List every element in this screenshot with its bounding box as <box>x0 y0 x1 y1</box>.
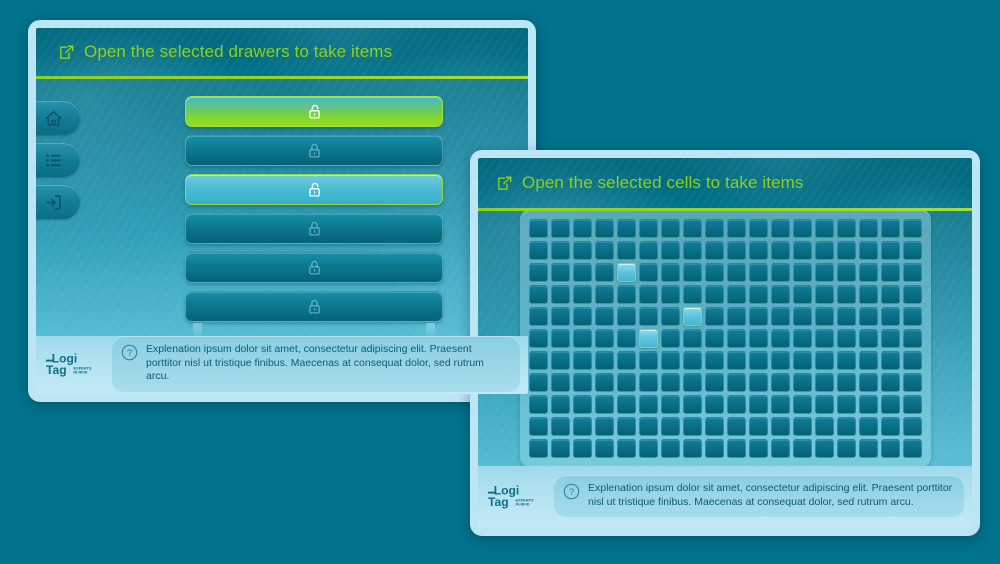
cell-r11-c12[interactable] <box>771 439 790 458</box>
cell-r5-c11[interactable] <box>749 307 768 326</box>
lock-icon <box>306 142 323 159</box>
cell-r9-c10[interactable] <box>727 395 746 414</box>
cell-r4-c5[interactable] <box>617 285 636 304</box>
cell-r6-c6[interactable] <box>639 329 658 348</box>
cell-r7-c1[interactable] <box>529 351 548 370</box>
cell-r10-c8[interactable] <box>683 417 702 436</box>
cell-r10-c11[interactable] <box>749 417 768 436</box>
cell-r4-c12[interactable] <box>771 285 790 304</box>
cell-r3-c9[interactable] <box>705 263 724 282</box>
cell-r11-c8[interactable] <box>683 439 702 458</box>
cell-r6-c15[interactable] <box>837 329 856 348</box>
drawer-1[interactable] <box>185 96 443 127</box>
cells-footer: Logi Tag EXPERTS IN RFID ? Explenation i… <box>478 466 972 528</box>
cell-r10-c6[interactable] <box>639 417 658 436</box>
cell-r3-c16[interactable] <box>859 263 878 282</box>
cell-r5-c12[interactable] <box>771 307 790 326</box>
svg-text:EXPERTS: EXPERTS <box>516 498 534 502</box>
cell-r3-c8[interactable] <box>683 263 702 282</box>
cell-r2-c2[interactable] <box>551 241 570 260</box>
cell-r4-c6[interactable] <box>639 285 658 304</box>
drawers-window-inner: Open the selected drawers to take items <box>36 28 528 394</box>
cell-r11-c16[interactable] <box>859 439 878 458</box>
cell-r10-c1[interactable] <box>529 417 548 436</box>
cell-r6-c18[interactable] <box>903 329 922 348</box>
cell-r2-c10[interactable] <box>727 241 746 260</box>
cell-r1-c4[interactable] <box>595 219 614 238</box>
list-icon <box>44 151 63 170</box>
cell-r9-c6[interactable] <box>639 395 658 414</box>
cell-r2-c3[interactable] <box>573 241 592 260</box>
cell-r4-c4[interactable] <box>595 285 614 304</box>
cell-r9-c9[interactable] <box>705 395 724 414</box>
cell-r6-c9[interactable] <box>705 329 724 348</box>
question-mark-icon[interactable]: ? <box>121 344 138 361</box>
cell-r1-c14[interactable] <box>815 219 834 238</box>
cell-r2-c14[interactable] <box>815 241 834 260</box>
cell-r5-c4[interactable] <box>595 307 614 326</box>
cell-r4-c18[interactable] <box>903 285 922 304</box>
cell-r5-c5[interactable] <box>617 307 636 326</box>
cell-r5-c13[interactable] <box>793 307 812 326</box>
cell-r2-c15[interactable] <box>837 241 856 260</box>
cell-r3-c17[interactable] <box>881 263 900 282</box>
cell-r5-c3[interactable] <box>573 307 592 326</box>
drawers-body <box>36 79 528 336</box>
cell-r2-c4[interactable] <box>595 241 614 260</box>
cells-help-text: Explenation ipsum dolor sit amet, consec… <box>588 482 954 509</box>
cell-r4-c8[interactable] <box>683 285 702 304</box>
cell-r9-c11[interactable] <box>749 395 768 414</box>
logitag-logo: Logi Tag EXPERTS IN RFID <box>46 350 104 378</box>
cell-r3-c5[interactable] <box>617 263 636 282</box>
cell-r3-c13[interactable] <box>793 263 812 282</box>
cell-r11-c11[interactable] <box>749 439 768 458</box>
cell-r1-c3[interactable] <box>573 219 592 238</box>
cell-r10-c17[interactable] <box>881 417 900 436</box>
cell-r2-c18[interactable] <box>903 241 922 260</box>
cell-r4-c13[interactable] <box>793 285 812 304</box>
cell-r6-c8[interactable] <box>683 329 702 348</box>
cell-r4-c9[interactable] <box>705 285 724 304</box>
cell-r11-c2[interactable] <box>551 439 570 458</box>
cell-r8-c7[interactable] <box>661 373 680 392</box>
cell-r4-c14[interactable] <box>815 285 834 304</box>
cell-r6-c12[interactable] <box>771 329 790 348</box>
cell-r8-c12[interactable] <box>771 373 790 392</box>
cell-r1-c2[interactable] <box>551 219 570 238</box>
drawer-4[interactable] <box>185 213 443 244</box>
cell-r6-c13[interactable] <box>793 329 812 348</box>
cell-r5-c1[interactable] <box>529 307 548 326</box>
cells-body <box>478 211 972 466</box>
cells-grid <box>529 219 922 458</box>
cell-r9-c17[interactable] <box>881 395 900 414</box>
cell-r11-c7[interactable] <box>661 439 680 458</box>
cell-r11-c18[interactable] <box>903 439 922 458</box>
cell-r8-c4[interactable] <box>595 373 614 392</box>
cell-r3-c3[interactable] <box>573 263 592 282</box>
lock-icon <box>306 259 323 276</box>
cell-r7-c2[interactable] <box>551 351 570 370</box>
cell-r10-c4[interactable] <box>595 417 614 436</box>
cell-r9-c13[interactable] <box>793 395 812 414</box>
cell-r6-c1[interactable] <box>529 329 548 348</box>
cell-r1-c15[interactable] <box>837 219 856 238</box>
drawer-cabinet <box>185 96 443 322</box>
sidebar-item-home[interactable] <box>36 101 80 135</box>
cell-r6-c4[interactable] <box>595 329 614 348</box>
drawers-sidebar <box>36 79 100 336</box>
drawers-help-text: Explenation ipsum dolor sit amet, consec… <box>146 343 510 383</box>
svg-text:IN RFID: IN RFID <box>74 371 88 375</box>
cell-r2-c12[interactable] <box>771 241 790 260</box>
svg-text:Tag: Tag <box>488 495 509 509</box>
cells-window-title: Open the selected cells to take items <box>522 173 804 193</box>
svg-text:EXPERTS: EXPERTS <box>74 366 92 370</box>
drawers-window-title: Open the selected drawers to take items <box>84 42 392 62</box>
cell-r1-c1[interactable] <box>529 219 548 238</box>
drawers-footer: Logi Tag EXPERTS IN RFID ? Explenation i… <box>36 336 528 394</box>
cell-r5-c9[interactable] <box>705 307 724 326</box>
cell-r10-c10[interactable] <box>727 417 746 436</box>
drawers-window[interactable]: Open the selected drawers to take items <box>28 20 536 402</box>
cell-r11-c9[interactable] <box>705 439 724 458</box>
cells-grid-area <box>478 211 972 466</box>
cell-r9-c14[interactable] <box>815 395 834 414</box>
cell-r2-c5[interactable] <box>617 241 636 260</box>
cell-r4-c1[interactable] <box>529 285 548 304</box>
question-mark-icon[interactable]: ? <box>563 483 580 500</box>
cell-r1-c16[interactable] <box>859 219 878 238</box>
unlock-icon <box>306 181 323 198</box>
cell-r7-c14[interactable] <box>815 351 834 370</box>
cell-r2-c7[interactable] <box>661 241 680 260</box>
cells-window[interactable]: Open the selected cells to take items Lo… <box>470 150 980 536</box>
cell-r8-c11[interactable] <box>749 373 768 392</box>
cell-r4-c17[interactable] <box>881 285 900 304</box>
cells-window-inner: Open the selected cells to take items Lo… <box>478 158 972 528</box>
cell-r3-c2[interactable] <box>551 263 570 282</box>
home-icon <box>44 109 63 128</box>
cell-r6-c2[interactable] <box>551 329 570 348</box>
cell-r1-c7[interactable] <box>661 219 680 238</box>
cell-r7-c17[interactable] <box>881 351 900 370</box>
cell-r2-c13[interactable] <box>793 241 812 260</box>
cell-r4-c11[interactable] <box>749 285 768 304</box>
cell-r8-c1[interactable] <box>529 373 548 392</box>
cell-r11-c17[interactable] <box>881 439 900 458</box>
cells-grid-panel <box>520 211 931 466</box>
open-external-icon <box>496 175 513 192</box>
cell-r7-c4[interactable] <box>595 351 614 370</box>
svg-text:?: ? <box>127 348 132 358</box>
cell-r7-c5[interactable] <box>617 351 636 370</box>
cell-r6-c5[interactable] <box>617 329 636 348</box>
cell-r2-c6[interactable] <box>639 241 658 260</box>
cell-r8-c10[interactable] <box>727 373 746 392</box>
drawer-3[interactable] <box>185 174 443 205</box>
cells-titlebar: Open the selected cells to take items <box>478 158 972 208</box>
cell-r7-c18[interactable] <box>903 351 922 370</box>
cell-r1-c5[interactable] <box>617 219 636 238</box>
cell-r8-c8[interactable] <box>683 373 702 392</box>
cell-r8-c5[interactable] <box>617 373 636 392</box>
cell-r10-c13[interactable] <box>793 417 812 436</box>
cell-r2-c1[interactable] <box>529 241 548 260</box>
cell-r7-c8[interactable] <box>683 351 702 370</box>
open-external-icon <box>58 44 75 61</box>
cell-r10-c9[interactable] <box>705 417 724 436</box>
cell-r8-c9[interactable] <box>705 373 724 392</box>
cell-r9-c1[interactable] <box>529 395 548 414</box>
cell-r9-c16[interactable] <box>859 395 878 414</box>
cell-r6-c7[interactable] <box>661 329 680 348</box>
cell-r10-c3[interactable] <box>573 417 592 436</box>
cell-r1-c17[interactable] <box>881 219 900 238</box>
cell-r11-c5[interactable] <box>617 439 636 458</box>
lock-icon <box>306 220 323 237</box>
cabinet-legs <box>185 323 443 336</box>
cell-r10-c5[interactable] <box>617 417 636 436</box>
cell-r10-c7[interactable] <box>661 417 680 436</box>
cell-r2-c17[interactable] <box>881 241 900 260</box>
svg-text:IN RFID: IN RFID <box>516 503 530 507</box>
cell-r11-c13[interactable] <box>793 439 812 458</box>
cell-r10-c18[interactable] <box>903 417 922 436</box>
cell-r7-c3[interactable] <box>573 351 592 370</box>
unlock-icon <box>306 103 323 120</box>
cell-r9-c15[interactable] <box>837 395 856 414</box>
sidebar-item-list[interactable] <box>36 143 80 177</box>
lock-icon <box>306 298 323 315</box>
cell-r10-c15[interactable] <box>837 417 856 436</box>
cell-r5-c18[interactable] <box>903 307 922 326</box>
cell-r5-c16[interactable] <box>859 307 878 326</box>
cell-r8-c3[interactable] <box>573 373 592 392</box>
cell-r3-c1[interactable] <box>529 263 548 282</box>
cell-r6-c14[interactable] <box>815 329 834 348</box>
cell-r7-c6[interactable] <box>639 351 658 370</box>
cell-r1-c6[interactable] <box>639 219 658 238</box>
drawers-titlebar: Open the selected drawers to take items <box>36 28 528 76</box>
cell-r1-c8[interactable] <box>683 219 702 238</box>
cell-r11-c14[interactable] <box>815 439 834 458</box>
cell-r11-c4[interactable] <box>595 439 614 458</box>
cell-r3-c10[interactable] <box>727 263 746 282</box>
cell-r10-c2[interactable] <box>551 417 570 436</box>
cell-r10-c14[interactable] <box>815 417 834 436</box>
cell-r5-c15[interactable] <box>837 307 856 326</box>
cell-r6-c10[interactable] <box>727 329 746 348</box>
cell-r7-c7[interactable] <box>661 351 680 370</box>
cell-r7-c16[interactable] <box>859 351 878 370</box>
cell-r4-c16[interactable] <box>859 285 878 304</box>
drawer-6[interactable] <box>185 291 443 322</box>
cell-r5-c7[interactable] <box>661 307 680 326</box>
cell-r8-c17[interactable] <box>881 373 900 392</box>
cell-r2-c8[interactable] <box>683 241 702 260</box>
drawer-5[interactable] <box>185 252 443 283</box>
cell-r1-c18[interactable] <box>903 219 922 238</box>
cell-r8-c13[interactable] <box>793 373 812 392</box>
cell-r8-c14[interactable] <box>815 373 834 392</box>
sidebar-item-logout[interactable] <box>36 185 80 219</box>
cell-r4-c7[interactable] <box>661 285 680 304</box>
cell-r11-c3[interactable] <box>573 439 592 458</box>
cell-r3-c14[interactable] <box>815 263 834 282</box>
logout-icon <box>44 193 63 212</box>
cell-r1-c11[interactable] <box>749 219 768 238</box>
cell-r6-c11[interactable] <box>749 329 768 348</box>
cell-r1-c9[interactable] <box>705 219 724 238</box>
cell-r3-c6[interactable] <box>639 263 658 282</box>
drawers-cabinet-area <box>100 79 528 336</box>
cell-r9-c8[interactable] <box>683 395 702 414</box>
cell-r9-c5[interactable] <box>617 395 636 414</box>
cell-r8-c2[interactable] <box>551 373 570 392</box>
cell-r2-c9[interactable] <box>705 241 724 260</box>
cell-r1-c10[interactable] <box>727 219 746 238</box>
cell-r6-c17[interactable] <box>881 329 900 348</box>
cell-r4-c10[interactable] <box>727 285 746 304</box>
cells-help-panel: ? Explenation ipsum dolor sit amet, cons… <box>554 475 964 517</box>
cell-r1-c13[interactable] <box>793 219 812 238</box>
cell-r2-c11[interactable] <box>749 241 768 260</box>
cell-r3-c12[interactable] <box>771 263 790 282</box>
drawers-help-panel: ? Explenation ipsum dolor sit amet, cons… <box>112 336 520 391</box>
cell-r7-c10[interactable] <box>727 351 746 370</box>
cell-r10-c16[interactable] <box>859 417 878 436</box>
cell-r5-c6[interactable] <box>639 307 658 326</box>
cell-r7-c9[interactable] <box>705 351 724 370</box>
cell-r5-c2[interactable] <box>551 307 570 326</box>
cell-r8-c16[interactable] <box>859 373 878 392</box>
cell-r7-c15[interactable] <box>837 351 856 370</box>
svg-text:?: ? <box>569 487 574 497</box>
cell-r3-c11[interactable] <box>749 263 768 282</box>
cell-r3-c4[interactable] <box>595 263 614 282</box>
cell-r8-c18[interactable] <box>903 373 922 392</box>
cell-r6-c16[interactable] <box>859 329 878 348</box>
cell-r3-c7[interactable] <box>661 263 680 282</box>
cell-r11-c1[interactable] <box>529 439 548 458</box>
cell-r7-c11[interactable] <box>749 351 768 370</box>
cell-r3-c18[interactable] <box>903 263 922 282</box>
drawer-2[interactable] <box>185 135 443 166</box>
cell-r5-c10[interactable] <box>727 307 746 326</box>
cell-r5-c8[interactable] <box>683 307 702 326</box>
cell-r4-c15[interactable] <box>837 285 856 304</box>
cell-r9-c18[interactable] <box>903 395 922 414</box>
cell-r9-c7[interactable] <box>661 395 680 414</box>
cell-r5-c14[interactable] <box>815 307 834 326</box>
logitag-logo: Logi Tag EXPERTS IN RFID <box>488 482 546 510</box>
cell-r6-c3[interactable] <box>573 329 592 348</box>
svg-text:Tag: Tag <box>46 363 67 377</box>
cell-r7-c12[interactable] <box>771 351 790 370</box>
cell-r10-c12[interactable] <box>771 417 790 436</box>
cell-r11-c15[interactable] <box>837 439 856 458</box>
cell-r4-c2[interactable] <box>551 285 570 304</box>
cell-r9-c4[interactable] <box>595 395 614 414</box>
cell-r1-c12[interactable] <box>771 219 790 238</box>
cell-r3-c15[interactable] <box>837 263 856 282</box>
cell-r8-c15[interactable] <box>837 373 856 392</box>
cell-r2-c16[interactable] <box>859 241 878 260</box>
cell-r11-c6[interactable] <box>639 439 658 458</box>
cell-r4-c3[interactable] <box>573 285 592 304</box>
cell-r9-c2[interactable] <box>551 395 570 414</box>
cell-r5-c17[interactable] <box>881 307 900 326</box>
cell-r11-c10[interactable] <box>727 439 746 458</box>
cell-r8-c6[interactable] <box>639 373 658 392</box>
cell-r9-c12[interactable] <box>771 395 790 414</box>
cell-r7-c13[interactable] <box>793 351 812 370</box>
cell-r9-c3[interactable] <box>573 395 592 414</box>
